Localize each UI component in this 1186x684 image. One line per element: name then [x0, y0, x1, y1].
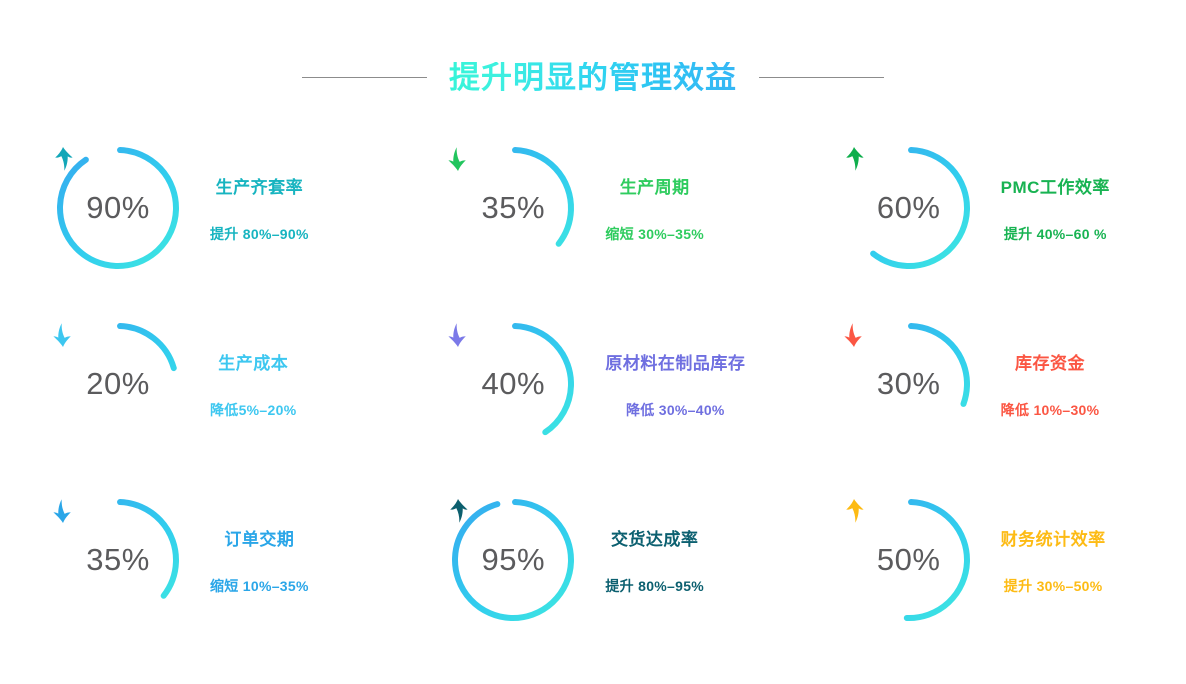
- metric-card-inventory-capital: 30%库存资金降低 10%–30%: [791, 296, 1186, 472]
- metric-labels-production-cycle: 生产周期缩短 30%–35%: [605, 173, 704, 244]
- metric-title: 订单交期: [224, 525, 294, 550]
- metric-detail: 缩短 10%–35%: [210, 576, 309, 596]
- page-header: 提升明显的管理效益: [0, 52, 1186, 102]
- gauge-production-kitting-rate: 90%: [52, 142, 184, 274]
- title-rule-left: [302, 77, 427, 78]
- gauge-percent-value: 20%: [86, 368, 150, 399]
- metric-detail: 缩短 30%–35%: [605, 224, 704, 244]
- gauge-percent-value: 95%: [482, 544, 546, 575]
- gauge-financial-statistics-efficiency: 50%: [843, 494, 975, 626]
- metric-labels-inventory-capital: 库存资金降低 10%–30%: [1001, 349, 1100, 420]
- page-title: 提升明显的管理效益: [449, 62, 737, 93]
- metric-title: 财务统计效率: [1001, 525, 1106, 550]
- metric-labels-delivery-achievement-rate: 交货达成率提升 80%–95%: [605, 525, 704, 596]
- gauge-percent-value: 40%: [482, 368, 546, 399]
- gauge-delivery-achievement-rate: 95%: [447, 494, 579, 626]
- metric-labels-financial-statistics-efficiency: 财务统计效率提升 30%–50%: [1001, 525, 1106, 596]
- title-rule-right: [759, 77, 884, 78]
- metric-detail: 提升 80%–95%: [605, 576, 704, 596]
- trend-up-icon: [447, 498, 469, 524]
- trend-down-icon: [447, 322, 469, 348]
- gauge-raw-material-wip-inventory: 40%: [447, 318, 579, 450]
- trend-up-icon: [843, 498, 865, 524]
- metric-detail: 降低 30%–40%: [626, 400, 725, 420]
- metric-card-production-cycle: 35%生产周期缩短 30%–35%: [395, 120, 790, 296]
- metric-title: 交货达成率: [611, 525, 699, 550]
- metric-title: PMC工作效率: [1001, 173, 1110, 198]
- metric-labels-production-kitting-rate: 生产齐套率提升 80%–90%: [210, 173, 309, 244]
- metrics-grid: 90%生产齐套率提升 80%–90%35%生产周期缩短 30%–35%60%PM…: [0, 120, 1186, 648]
- metric-card-delivery-achievement-rate: 95%交货达成率提升 80%–95%: [395, 472, 790, 648]
- metric-title: 生产成本: [218, 349, 288, 374]
- trend-up-icon: [843, 146, 865, 172]
- metric-card-financial-statistics-efficiency: 50%财务统计效率提升 30%–50%: [791, 472, 1186, 648]
- metric-title: 生产齐套率: [216, 173, 304, 198]
- metric-labels-order-delivery-lead-time: 订单交期缩短 10%–35%: [210, 525, 309, 596]
- gauge-order-delivery-lead-time: 35%: [52, 494, 184, 626]
- metric-labels-production-cost: 生产成本降低5%–20%: [210, 349, 296, 420]
- metric-card-production-cost: 20%生产成本降低5%–20%: [0, 296, 395, 472]
- metric-detail: 提升 40%–60 %: [1004, 224, 1107, 244]
- gauge-percent-value: 30%: [877, 368, 941, 399]
- gauge-production-cycle: 35%: [447, 142, 579, 274]
- gauge-percent-value: 50%: [877, 544, 941, 575]
- metric-labels-raw-material-wip-inventory: 原材料在制品库存降低 30%–40%: [605, 349, 745, 420]
- gauge-percent-value: 90%: [86, 192, 150, 223]
- metric-title: 生产周期: [620, 173, 690, 198]
- metric-card-order-delivery-lead-time: 35%订单交期缩短 10%–35%: [0, 472, 395, 648]
- gauge-pmc-work-efficiency: 60%: [843, 142, 975, 274]
- trend-down-icon: [843, 322, 865, 348]
- gauge-production-cost: 20%: [52, 318, 184, 450]
- trend-up-icon: [52, 146, 74, 172]
- trend-down-icon: [52, 322, 74, 348]
- trend-down-icon: [52, 498, 74, 524]
- metric-detail: 降低 10%–30%: [1001, 400, 1100, 420]
- metric-title: 库存资金: [1015, 349, 1085, 374]
- metric-detail: 提升 30%–50%: [1004, 576, 1103, 596]
- gauge-inventory-capital: 30%: [843, 318, 975, 450]
- metric-title: 原材料在制品库存: [605, 349, 745, 374]
- metric-detail: 降低5%–20%: [210, 400, 296, 420]
- gauge-percent-value: 35%: [86, 544, 150, 575]
- metric-labels-pmc-work-efficiency: PMC工作效率提升 40%–60 %: [1001, 173, 1110, 244]
- metric-detail: 提升 80%–90%: [210, 224, 309, 244]
- metric-card-pmc-work-efficiency: 60%PMC工作效率提升 40%–60 %: [791, 120, 1186, 296]
- gauge-percent-value: 60%: [877, 192, 941, 223]
- gauge-percent-value: 35%: [482, 192, 546, 223]
- metric-card-production-kitting-rate: 90%生产齐套率提升 80%–90%: [0, 120, 395, 296]
- trend-down-icon: [447, 146, 469, 172]
- metric-card-raw-material-wip-inventory: 40%原材料在制品库存降低 30%–40%: [395, 296, 790, 472]
